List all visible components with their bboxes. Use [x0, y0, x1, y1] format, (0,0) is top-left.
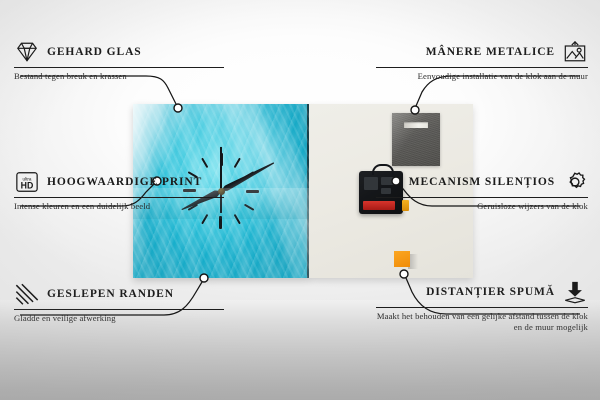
feature-gehard-glas: GEHARD GLAS Bestand tegen breuk en krass…	[14, 40, 224, 82]
feature-rule	[376, 67, 588, 68]
feature-title: GESLEPEN RANDEN	[47, 288, 174, 301]
feature-desc: Gladde en veilige afwerking	[14, 313, 224, 324]
feature-header: MÂNERE METALICE	[376, 40, 588, 64]
diamond-icon	[14, 40, 40, 64]
feature-rule	[376, 197, 588, 198]
hanger-slot	[404, 122, 428, 128]
feature-header: DISTANȚIER SPUMĂ	[376, 280, 588, 304]
metal-hanger-part	[392, 113, 440, 166]
feature-header: GESLEPEN RANDEN	[14, 282, 224, 306]
ultra-hd-icon: ultra HD	[14, 170, 40, 194]
feature-rule	[376, 307, 588, 308]
feature-manere-metalice: MÂNERE METALICE Eenvoudige installatie v…	[376, 40, 588, 82]
spacer-arrow-icon	[562, 280, 588, 304]
feature-title: MECANISM SILENȚIOS	[409, 176, 555, 189]
feature-desc: Geruisloze wijzers van de klok	[376, 201, 588, 212]
feature-desc: Eenvoudige installatie van de klok aan d…	[376, 71, 588, 82]
gear-icon	[562, 170, 588, 194]
feature-mecanism-silentios: MECANISM SILENȚIOS Geruisloze wijzers va…	[376, 170, 588, 212]
diagonal-lines-icon	[14, 282, 40, 306]
feature-header: GEHARD GLAS	[14, 40, 224, 64]
feature-header: ultra HD HOOGWAARDIGE PRINT	[14, 170, 224, 194]
foam-spacer-part	[394, 251, 410, 267]
feature-rule	[14, 309, 224, 310]
feature-title: HOOGWAARDIGE PRINT	[47, 176, 202, 189]
feature-rule	[14, 67, 224, 68]
feature-desc: Bestand tegen breuk en krassen	[14, 71, 224, 82]
feature-title: GEHARD GLAS	[47, 46, 142, 59]
svg-text:HD: HD	[21, 180, 34, 190]
feature-desc: Maakt het behouden van een gelijke afsta…	[376, 311, 588, 333]
feature-geslepen-randen: GESLEPEN RANDEN Gladde en veilige afwerk…	[14, 282, 224, 324]
picture-hanger-icon	[562, 40, 588, 64]
feature-title: MÂNERE METALICE	[426, 46, 555, 59]
feature-rule	[14, 197, 224, 198]
infographic-canvas: GEHARD GLAS Bestand tegen breuk en krass…	[0, 0, 600, 400]
feature-distantier-spuma: DISTANȚIER SPUMĂ Maakt het behouden van …	[376, 280, 588, 333]
feature-hoogwaardige-print: ultra HD HOOGWAARDIGE PRINT Intense kleu…	[14, 170, 224, 212]
feature-title: DISTANȚIER SPUMĂ	[426, 286, 555, 299]
feature-header: MECANISM SILENȚIOS	[376, 170, 588, 194]
feature-desc: Intense kleuren en een duidelijk beeld	[14, 201, 224, 212]
